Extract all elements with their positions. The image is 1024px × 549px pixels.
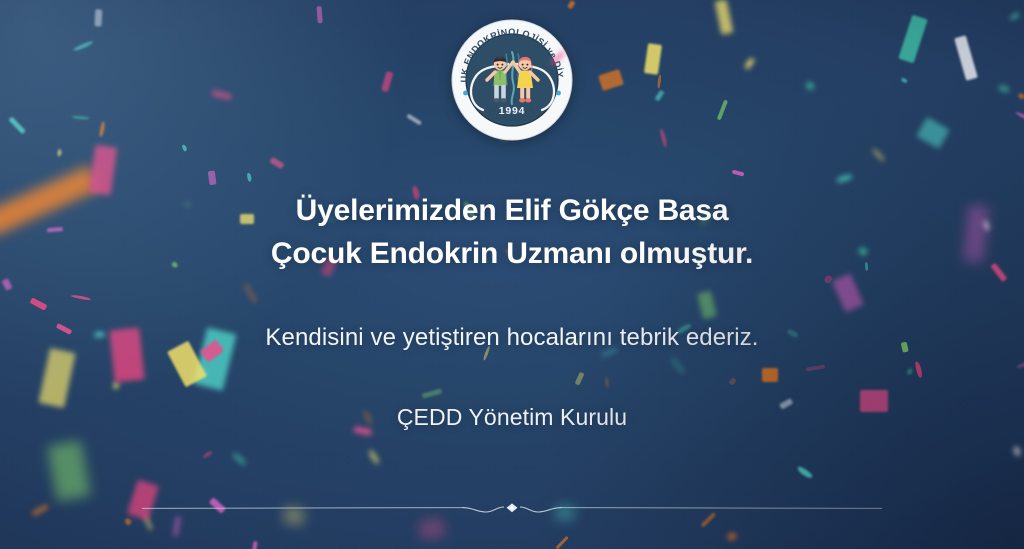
headline-line-1: Üyelerimizden Elif Gökçe Basa (296, 194, 729, 227)
confetti-piece (202, 450, 213, 458)
confetti-piece (1009, 12, 1021, 22)
confetti-piece (901, 77, 908, 82)
confetti-piece (556, 535, 569, 549)
confetti-piece (898, 15, 927, 64)
confetti-piece (727, 532, 737, 542)
confetti-piece (246, 172, 251, 181)
confetti-piece (715, 0, 734, 35)
confetti-piece (872, 147, 887, 162)
ornamental-divider (142, 497, 882, 519)
confetti-piece (269, 157, 284, 169)
headline-line-2: Çocuk Endokrin Uzmanı olmuştur. (0, 233, 1024, 276)
confetti-piece (1018, 92, 1024, 100)
confetti-piece (94, 9, 102, 26)
confetti-piece (419, 518, 445, 539)
confetti-piece (47, 440, 90, 501)
confetti-piece (232, 451, 249, 467)
confetti-piece (74, 40, 95, 52)
confetti-piece (655, 90, 665, 102)
confetti-piece (717, 99, 728, 120)
confetti-piece (916, 117, 950, 149)
announcement-text-block: Üyelerimizden Elif Gökçe Basa Çocuk Endo… (0, 190, 1024, 433)
confetti-piece (8, 117, 26, 135)
ornamental-divider-icon (142, 497, 882, 519)
confetti-piece (732, 169, 745, 176)
confetti-piece (743, 56, 755, 69)
confetti-piece (212, 89, 233, 100)
confetti-piece (123, 517, 132, 526)
confetti-piece (567, 0, 576, 10)
confetti-piece (999, 84, 1010, 92)
confetti-piece (406, 113, 422, 125)
confetti-piece (72, 115, 90, 120)
cedd-logo: ÇOCUK ENDOKRİNOLOJİSİ ve DİYABET DERNEĞİ… (450, 18, 574, 142)
signature: ÇEDD Yönetim Kurulu (0, 401, 1024, 433)
confetti-piece (837, 174, 853, 183)
confetti-piece (32, 504, 49, 516)
confetti-piece (316, 6, 322, 23)
headline: Üyelerimizden Elif Gökçe Basa Çocuk Endo… (0, 190, 1024, 275)
confetti-piece (182, 144, 189, 152)
confetti-piece (252, 541, 257, 549)
confetti-piece (208, 170, 217, 185)
confetti-piece (381, 70, 393, 91)
subtext: Kendisini ve yetiştiren hocalarını tebri… (0, 321, 1024, 355)
confetti-piece (89, 145, 117, 196)
confetti-piece (795, 464, 813, 479)
confetti-piece (367, 449, 381, 466)
confetti-piece (954, 35, 978, 81)
confetti-piece (659, 128, 668, 148)
confetti-piece (644, 43, 662, 75)
announcement-card: ÇOCUK ENDOKRİNOLOJİSİ ve DİYABET DERNEĞİ… (0, 0, 1024, 549)
confetti-piece (598, 69, 624, 91)
confetti-piece (1012, 446, 1021, 457)
confetti-piece (657, 74, 661, 89)
confetti-piece (805, 81, 815, 91)
cedd-logo-icon: ÇOCUK ENDOKRİNOLOJİSİ ve DİYABET DERNEĞİ… (450, 18, 574, 142)
confetti-piece (1016, 111, 1024, 122)
confetti-piece (99, 121, 106, 138)
confetti-piece (58, 150, 62, 158)
svg-text:1994: 1994 (499, 105, 526, 117)
